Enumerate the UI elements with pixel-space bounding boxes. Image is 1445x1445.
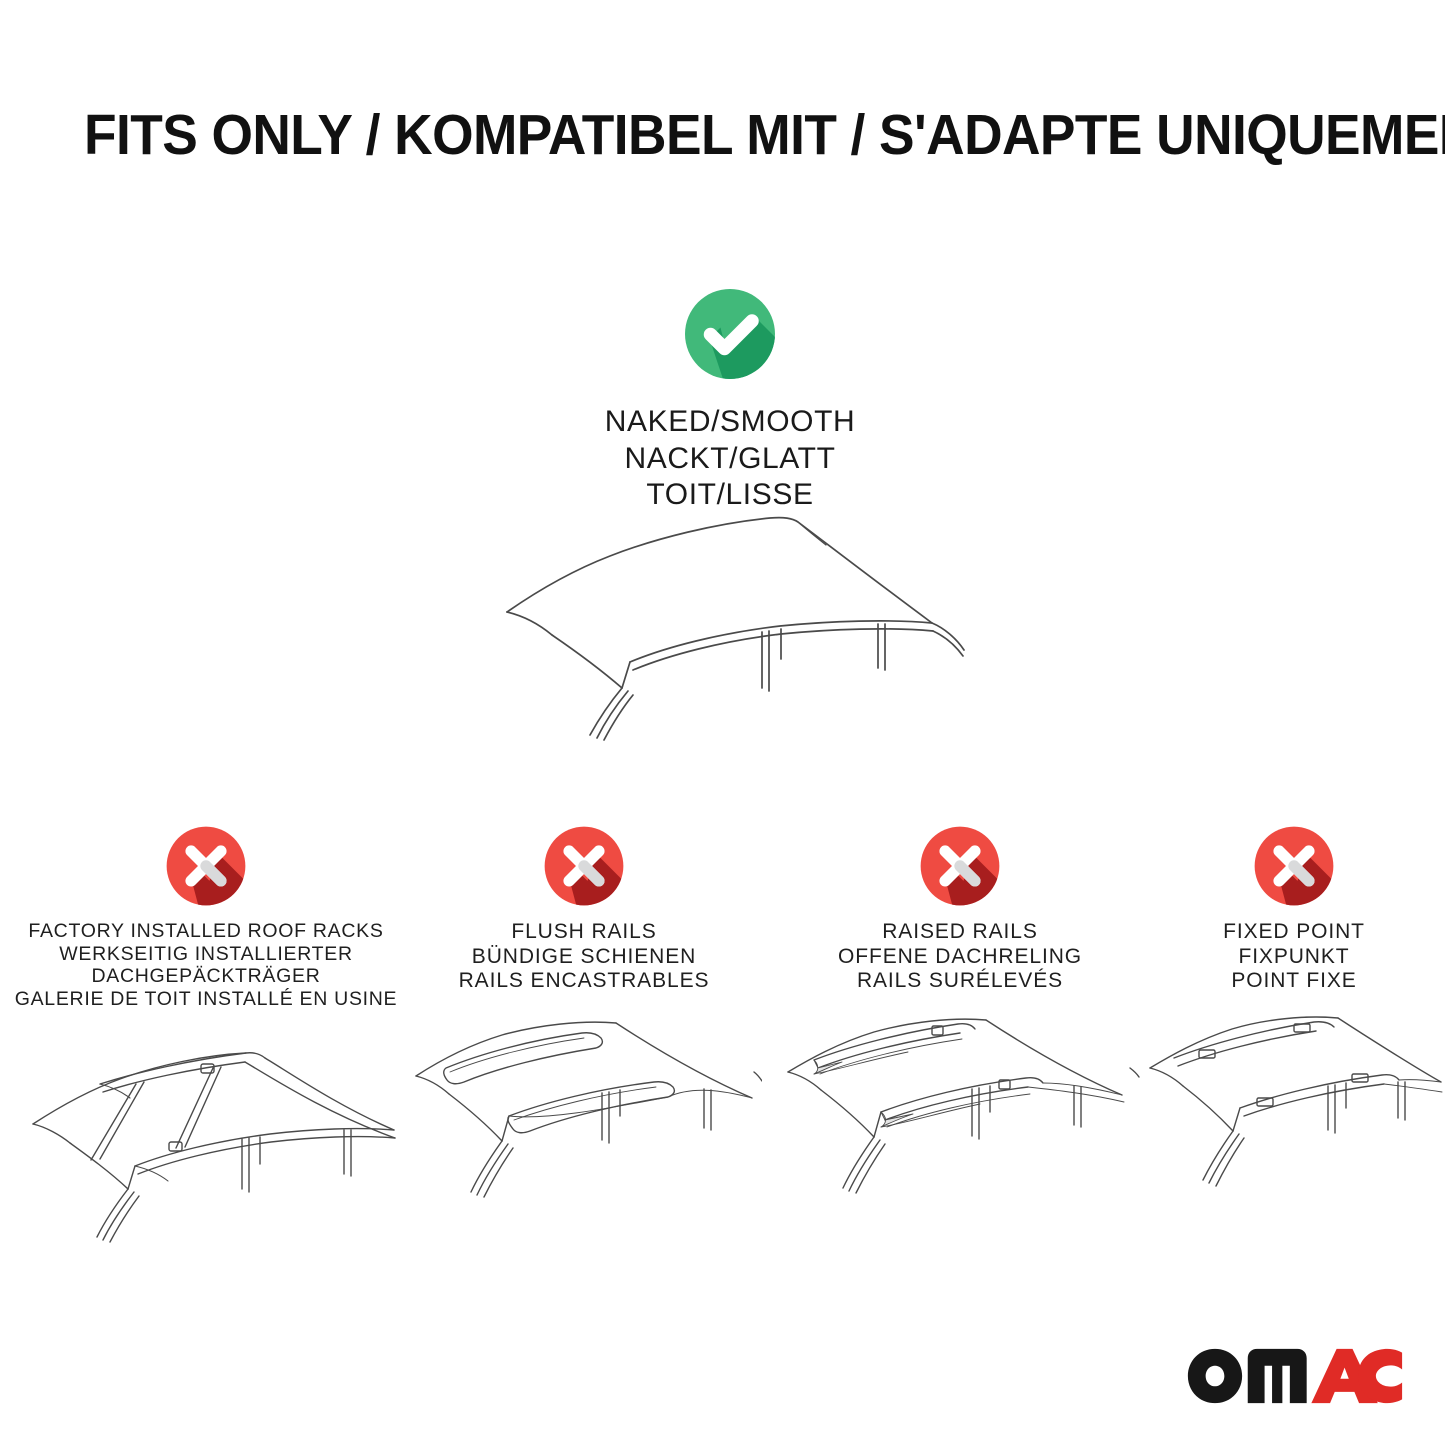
naked-smooth-roof-illustration — [470, 492, 990, 748]
incompatible-label-de-2: DACHGEPÄCKTRÄGER — [8, 965, 404, 988]
incompatible-group-factory-installed-roof-racks: FACTORY INSTALLED ROOF RACKS WERKSEITIG … — [8, 824, 404, 1246]
incompatible-label-de: FIXPUNKT — [1144, 945, 1444, 970]
flush-rails-illustration — [406, 1010, 762, 1230]
raised-rails-illustration — [780, 1010, 1140, 1230]
logo-letter-o — [1188, 1349, 1242, 1403]
incompatible-label-en: FLUSH RAILS — [406, 920, 762, 945]
incompatible-label-en: FIXED POINT — [1144, 920, 1444, 945]
incompatible-group-flush-rails: FLUSH RAILS BÜNDIGE SCHIENEN RAILS ENCAS… — [406, 824, 762, 1230]
check-circle-icon — [682, 286, 778, 382]
page-title: FITS ONLY / KOMPATIBEL MIT / S'ADAPTE UN… — [84, 104, 1290, 166]
incompatible-label-fr: POINT FIXE — [1144, 969, 1444, 994]
cross-circle-icon — [164, 824, 248, 908]
incompatible-label-de: OFFENE DACHRELING — [780, 945, 1140, 970]
incompatible-label-de-1: WERKSEITIG INSTALLIERTER — [8, 943, 404, 966]
incompatible-label-fr: RAILS SURÉLEVÉS — [780, 969, 1140, 994]
incompatible-labels-flush: FLUSH RAILS BÜNDIGE SCHIENEN RAILS ENCAS… — [406, 920, 762, 994]
incompatible-group-fixed-point: FIXED POINT FIXPUNKT POINT FIXE — [1144, 824, 1444, 1230]
incompatible-label-en: RAISED RAILS — [780, 920, 1140, 945]
logo-letter-m — [1248, 1349, 1307, 1403]
compatible-label-de: NACKT/GLATT — [605, 441, 856, 478]
incompatible-labels-factory: FACTORY INSTALLED ROOF RACKS WERKSEITIG … — [8, 920, 404, 1010]
omac-logo — [1186, 1347, 1403, 1405]
incompatible-label-de: BÜNDIGE SCHIENEN — [406, 945, 762, 970]
incompatible-labels-raised: RAISED RAILS OFFENE DACHRELING RAILS SUR… — [780, 920, 1140, 994]
incompatible-group-raised-rails: RAISED RAILS OFFENE DACHRELING RAILS SUR… — [780, 824, 1140, 1230]
compatible-label-en: NAKED/SMOOTH — [605, 404, 856, 441]
incompatible-label-fr: GALERIE DE TOIT INSTALLÉ EN USINE — [8, 988, 404, 1011]
compatible-group: NAKED/SMOOTH NACKT/GLATT TOIT/LISSE — [500, 286, 960, 514]
cross-circle-icon — [542, 824, 626, 908]
cross-circle-icon — [1252, 824, 1336, 908]
factory-roof-rack-illustration — [8, 1026, 404, 1246]
fixed-point-illustration — [1144, 1010, 1444, 1230]
incompatible-label-en: FACTORY INSTALLED ROOF RACKS — [8, 920, 404, 943]
incompatible-labels-fixed: FIXED POINT FIXPUNKT POINT FIXE — [1144, 920, 1444, 994]
incompatible-label-fr: RAILS ENCASTRABLES — [406, 969, 762, 994]
cross-circle-icon — [918, 824, 1002, 908]
